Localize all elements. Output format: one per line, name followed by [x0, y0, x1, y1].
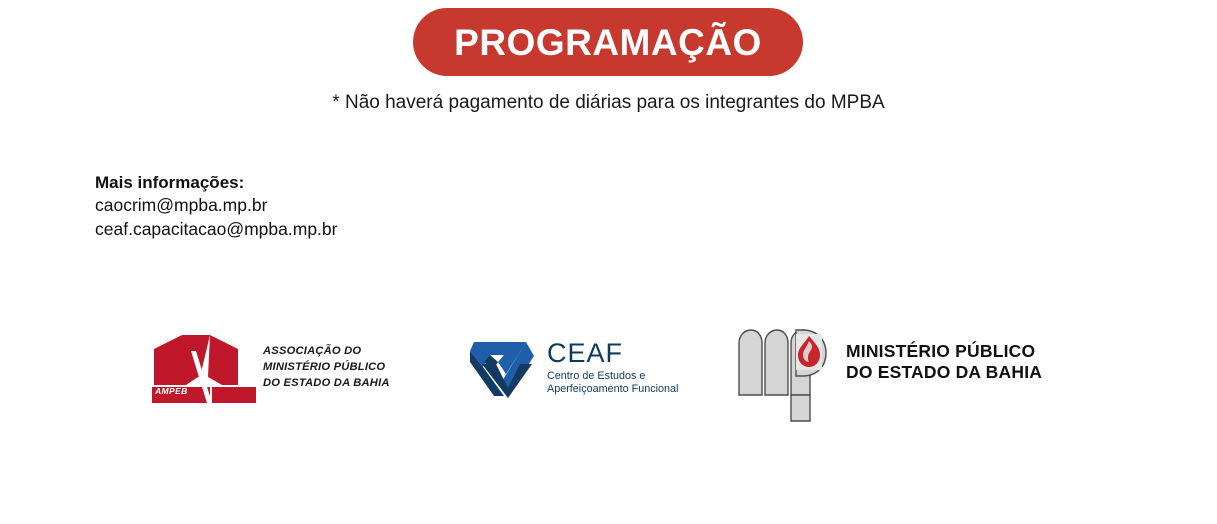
- mp-line-2: DO ESTADO DA BAHIA: [846, 362, 1042, 383]
- ceaf-subtitle: Centro de Estudos e Aperfeiçoamento Func…: [547, 370, 678, 398]
- logo-ceaf: CEAF Centro de Estudos e Aperfeiçoamento…: [468, 340, 678, 398]
- contact-email-caocrim[interactable]: caocrim@mpba.mp.br: [95, 194, 337, 217]
- contact-heading: Mais informações:: [95, 172, 337, 194]
- logo-ampeb: AMPEB ASSOCIAÇÃO DO MINISTÉRIO PÚBLICO D…: [152, 333, 390, 403]
- mp-wordmark-text: MINISTÉRIO PÚBLICO DO ESTADO DA BAHIA: [846, 341, 1042, 384]
- page-title: PROGRAMAÇÃO: [454, 24, 762, 61]
- ceaf-text-block: CEAF Centro de Estudos e Aperfeiçoamento…: [547, 341, 678, 397]
- subtitle-note: * Não haverá pagamento de diárias para o…: [0, 92, 1217, 114]
- ceaf-triangle-icon: [468, 340, 536, 398]
- contact-info-block: Mais informações: caocrim@mpba.mp.br cea…: [95, 172, 337, 241]
- ampeb-mark-label: AMPEB: [155, 386, 188, 396]
- ampeb-m-monogram-icon: AMPEB: [152, 333, 256, 403]
- ampeb-line-1: ASSOCIAÇÃO DO: [263, 344, 390, 360]
- ceaf-line-1: Centro de Estudos e: [547, 370, 678, 384]
- logo-strip: AMPEB ASSOCIAÇÃO DO MINISTÉRIO PÚBLICO D…: [0, 325, 1217, 430]
- mp-line-1: MINISTÉRIO PÚBLICO: [846, 341, 1042, 362]
- ceaf-wordmark-label: CEAF: [547, 341, 623, 367]
- mp-flame-monogram-icon: [736, 325, 828, 425]
- ceaf-line-2: Aperfeiçoamento Funcional: [547, 383, 678, 397]
- programacao-banner: PROGRAMAÇÃO: [413, 8, 803, 76]
- ampeb-line-3: DO ESTADO DA BAHIA: [263, 376, 390, 392]
- logo-ministerio-publico: MINISTÉRIO PÚBLICO DO ESTADO DA BAHIA: [736, 325, 1042, 425]
- ceaf-wordmark: CEAF: [547, 341, 678, 367]
- contact-email-ceaf[interactable]: ceaf.capacitacao@mpba.mp.br: [95, 218, 337, 241]
- ampeb-wordmark-text: ASSOCIAÇÃO DO MINISTÉRIO PÚBLICO DO ESTA…: [263, 344, 390, 392]
- ampeb-line-2: MINISTÉRIO PÚBLICO: [263, 360, 390, 376]
